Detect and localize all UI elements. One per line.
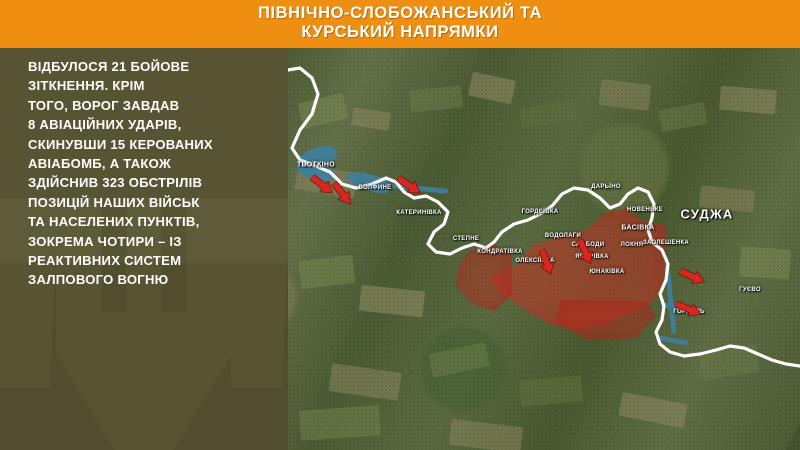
page-title-line-1: ПІВНІЧНО-СЛОБОЖАНСЬКИЙ ТА [258,4,542,22]
summary-text-line: ЗІТКНЕННЯ. КРІМ [28,76,280,95]
map-label-settlement: ТЬОТКІНО [297,162,335,169]
header-banner: ПІВНІЧНО-СЛОБОЖАНСЬКИЙ ТА КУРСЬКИЙ НАПРЯ… [0,0,800,48]
summary-text-line: ЗАЛПОВОГО ВОГНЮ [28,270,280,289]
map-label-settlement: ВОЛФИНЕ [359,185,392,191]
map-label-settlement: КАТЕРИНІВКА [396,210,441,216]
page-title: ПІВНІЧНО-СЛОБОЖАНСЬКИЙ ТА КУРСЬКИЙ НАПРЯ… [0,4,800,42]
map-label-settlement: НОВЕНЬКЕ [627,207,663,213]
summary-text-line: ЗОКРЕМА ЧОТИРИ – ІЗ [28,232,280,251]
map-label-settlement: ДАРЬЇНО [591,184,621,190]
map-label-settlement: КОНДРАТІВКА [477,249,522,255]
summary-text-line: 8 АВІАЦІЙНИХ УДАРІВ, [28,115,280,134]
map-label-settlement: ВОДОЛАГИ [545,233,581,239]
map-label-settlement: ЗАОЛЕШЕНКА [643,240,689,246]
summary-text-line: АВІАБОМБ, А ТАКОЖ [28,154,280,173]
map-label-settlement: СТЕПНЕ [453,236,479,242]
summary-text-line: ЗДІЙСНИВ 323 ОБСТРІЛІВ [28,173,280,192]
map-label-settlement: ГОРДЄЇВКА [522,209,559,215]
summary-text-line: ТА НАСЕЛЕНИХ ПУНКТІВ, [28,212,280,231]
map-label-settlement: ЮНАКІВКА [590,269,625,275]
map-label-settlement: СУДЖА [680,207,733,222]
summary-text-line: РЕАКТИВНИХ СИСТЕМ [28,251,280,270]
map-label-settlement: ГУЄВО [739,287,761,293]
infographic-root: ТЬОТКІНОВОЛФИНЕКАТЕРИНІВКАСТЕПНЕГОРДЄЇВК… [0,0,800,450]
summary-panel: ВІДБУЛОСЯ 21 БОЙОВЕЗІТКНЕННЯ. КРІМТОГО, … [0,48,288,450]
page-title-line-2: КУРСЬКИЙ НАПРЯМКИ [0,23,800,42]
summary-text-line: ПОЗИЦІЙ НАШИХ ВІЙСЬК [28,193,280,212]
map-label-settlement: БАСІВКА [621,225,654,232]
panel-shadow-band [0,263,288,450]
summary-text-line: СКИНУВШИ 15 КЕРОВАНИХ [28,135,280,154]
summary-text-line: ТОГО, ВОРОГ ЗАВДАВ [28,96,280,115]
summary-text-line: ВІДБУЛОСЯ 21 БОЙОВЕ [28,57,280,76]
summary-text: ВІДБУЛОСЯ 21 БОЙОВЕЗІТКНЕННЯ. КРІМТОГО, … [28,57,280,290]
map-label-settlement: ЛОКНЯ [621,242,644,248]
